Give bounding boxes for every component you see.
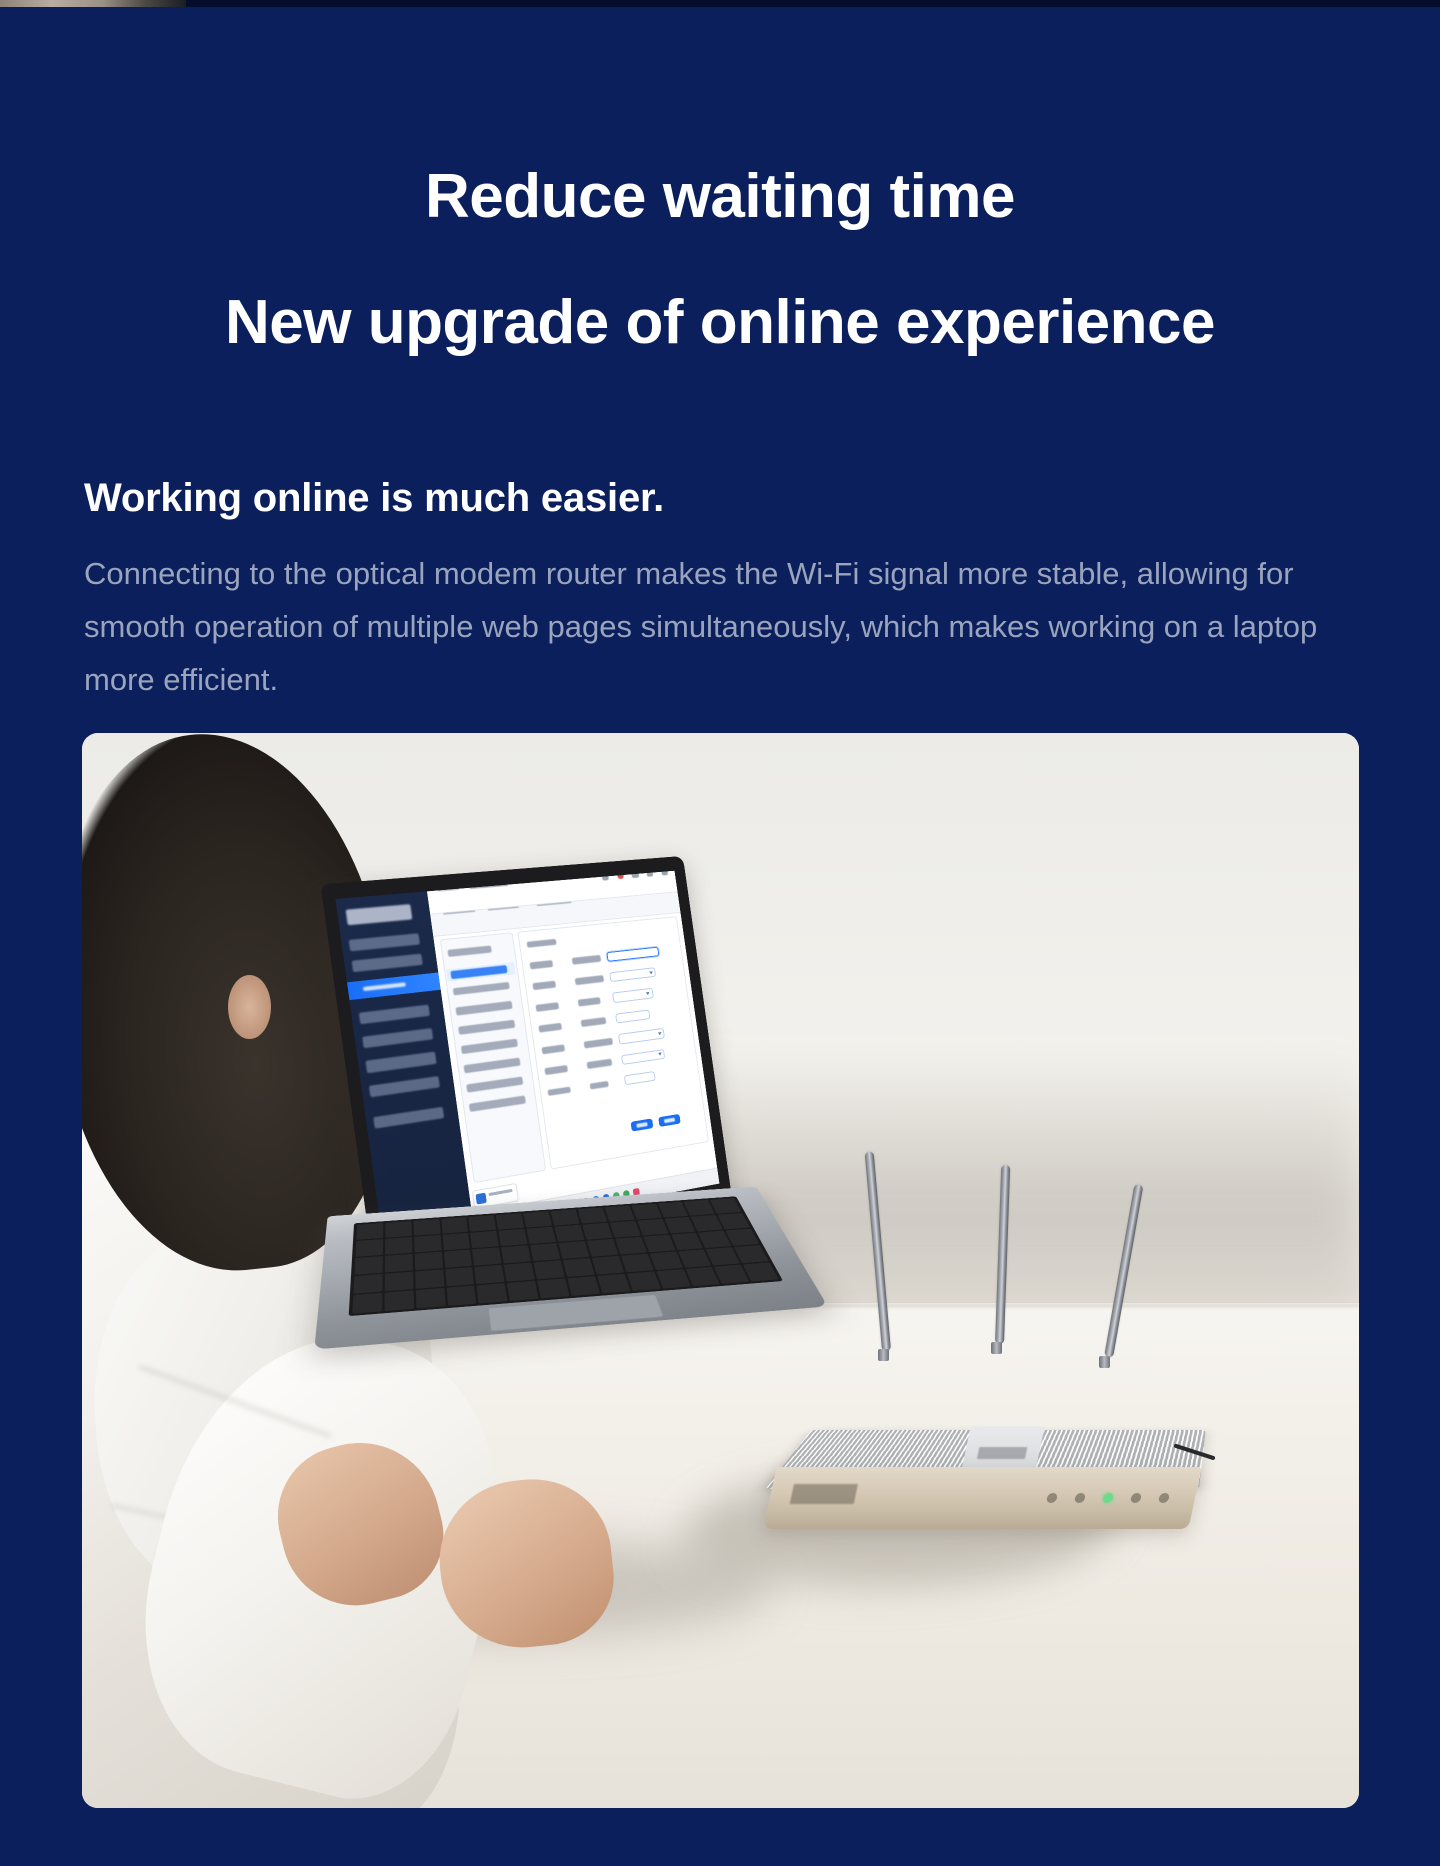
person-ear [228, 975, 271, 1040]
antenna-base [878, 1349, 889, 1361]
subpanel-item[interactable] [459, 1020, 515, 1035]
feature-title: Working online is much easier. [84, 471, 1356, 525]
breadcrumb-current [470, 885, 509, 889]
form-label [587, 1059, 613, 1069]
form-label [545, 1065, 569, 1075]
laptop-screen [336, 871, 720, 1248]
console-logo [346, 905, 412, 926]
form-input[interactable] [606, 947, 660, 962]
subpanel-item[interactable] [456, 1001, 512, 1016]
form-label [536, 1002, 560, 1012]
subpanel-item[interactable] [461, 1039, 517, 1054]
form-label [539, 1023, 563, 1033]
router-device [765, 1206, 1199, 1550]
promo-page: Reduce waiting time New upgrade of onlin… [0, 7, 1440, 1866]
led-lan [1129, 1493, 1141, 1503]
alert-icon[interactable] [617, 872, 624, 879]
top-edge-strip-fill [186, 0, 1440, 7]
led-wps [1157, 1493, 1169, 1503]
user-icon[interactable] [647, 871, 654, 877]
router-status-leds [1043, 1486, 1176, 1511]
logout-icon[interactable] [661, 871, 668, 876]
form-input[interactable] [621, 1049, 665, 1065]
form-label [530, 960, 554, 969]
form-label [533, 981, 557, 990]
feature-photo [82, 733, 1359, 1808]
topbar-icons [597, 872, 667, 878]
form-label [584, 1038, 613, 1049]
subpanel-item[interactable] [467, 1077, 523, 1093]
subpanel-title [448, 945, 492, 957]
sidebar-item[interactable] [374, 1107, 445, 1129]
form-label [575, 976, 604, 986]
sidebar-item[interactable] [366, 1052, 437, 1073]
tab-item[interactable] [489, 907, 520, 910]
refresh-icon[interactable] [602, 874, 609, 881]
form-label [578, 997, 601, 1006]
headline-line-1: Reduce waiting time [0, 159, 1440, 235]
breadcrumb-home[interactable] [438, 889, 459, 891]
laptop-keyboard[interactable] [349, 1196, 784, 1316]
form-section-heading [527, 939, 557, 949]
top-edge-strip-artifact [0, 0, 186, 7]
console-form [518, 916, 709, 1170]
subpanel-item[interactable] [453, 982, 509, 996]
headline-line-2: New upgrade of online experience [0, 285, 1440, 361]
form-input[interactable] [615, 1010, 650, 1024]
laptop [331, 867, 791, 1534]
antenna-base [1099, 1356, 1110, 1368]
form-label [581, 1018, 607, 1028]
subpanel-item[interactable] [464, 1058, 520, 1074]
router-front-panel [763, 1467, 1202, 1529]
form-select[interactable] [612, 989, 654, 1004]
led-internet [1073, 1493, 1085, 1503]
console-main [428, 871, 720, 1231]
form-select[interactable] [609, 968, 657, 983]
feature-section: Working online is much easier. Connectin… [0, 471, 1440, 706]
antenna-base [991, 1342, 1002, 1354]
router-antenna [1104, 1184, 1143, 1358]
sidebar-item[interactable] [369, 1076, 440, 1098]
form-label [548, 1087, 572, 1097]
sidebar-item[interactable] [352, 954, 423, 973]
help-icon[interactable] [632, 871, 639, 878]
sidebar-item[interactable] [359, 1005, 430, 1025]
form-label [542, 1044, 566, 1054]
feature-description: Connecting to the optical modem router m… [84, 547, 1334, 706]
form-submit-button[interactable] [631, 1119, 654, 1133]
sidebar-item-active[interactable] [347, 972, 441, 1000]
sidebar-item[interactable] [349, 933, 420, 951]
led-wifi [1101, 1493, 1113, 1503]
led-power [1045, 1493, 1057, 1503]
form-input[interactable] [624, 1072, 656, 1086]
form-label [572, 955, 601, 965]
form-cancel-button[interactable] [658, 1114, 681, 1128]
sidebar-item[interactable] [363, 1028, 434, 1049]
router-brand-logo [789, 1485, 857, 1505]
form-input[interactable] [618, 1029, 666, 1045]
subpanel-item[interactable] [470, 1096, 526, 1112]
form-label [590, 1081, 610, 1091]
